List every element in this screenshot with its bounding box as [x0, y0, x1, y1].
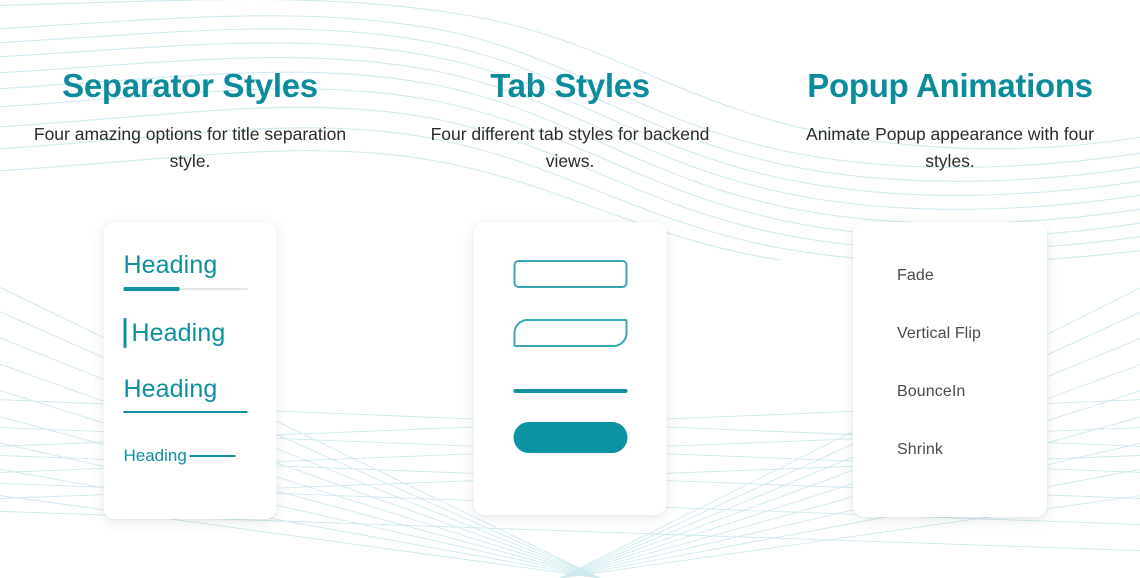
- separator-heading-label: Heading: [124, 250, 257, 280]
- column-tab-styles: Tab Styles Four different tab styles for…: [380, 0, 760, 578]
- separator-style-inline-line[interactable]: Heading: [124, 446, 257, 466]
- separator-inline-line: [190, 455, 236, 457]
- animation-option-shrink[interactable]: Shrink: [897, 442, 1047, 458]
- separator-heading-label: Heading: [132, 318, 226, 348]
- column-subtitle-separator-styles: Four amazing options for title separatio…: [25, 121, 355, 175]
- column-subtitle-tab-styles: Four different tab styles for backend vi…: [405, 121, 735, 175]
- animation-option-vertical-flip[interactable]: Vertical Flip: [897, 326, 1047, 342]
- animation-list-card: Fade Vertical Flip BounceIn Shrink: [853, 222, 1047, 517]
- column-subtitle-popup-animations: Animate Popup appearance with four style…: [785, 121, 1115, 175]
- tab-style-underline-bar[interactable]: [513, 389, 627, 393]
- separator-style-list: Heading Heading Heading: [104, 222, 277, 519]
- column-title-popup-animations: Popup Animations: [807, 68, 1092, 104]
- animation-option-fade[interactable]: Fade: [897, 268, 1047, 284]
- column-title-tab-styles: Tab Styles: [490, 68, 650, 104]
- tab-style-list: [474, 222, 667, 515]
- tab-preview-card: [474, 222, 667, 515]
- animation-option-bouncein[interactable]: BounceIn: [897, 384, 1047, 400]
- feature-showcase: Separator Styles Four amazing options fo…: [0, 0, 1140, 578]
- separator-style-underline-split[interactable]: Heading: [124, 250, 257, 291]
- column-title-separator-styles: Separator Styles: [62, 68, 318, 104]
- separator-heading-label: Heading: [124, 446, 187, 466]
- separator-rule-split: [124, 287, 248, 291]
- tab-style-rounded-rect-outline[interactable]: [513, 260, 627, 288]
- separator-rule-fill: [124, 287, 180, 291]
- separator-rule-full: [124, 411, 248, 413]
- separator-heading-label: Heading: [124, 374, 257, 404]
- column-separator-styles: Separator Styles Four amazing options fo…: [0, 0, 380, 578]
- tab-style-pill-filled[interactable]: [513, 422, 627, 453]
- animation-option-list: Fade Vertical Flip BounceIn Shrink: [853, 222, 1047, 517]
- separator-preview-card: Heading Heading Heading: [104, 222, 277, 519]
- separator-vertical-bar: [124, 318, 127, 348]
- column-popup-animations: Popup Animations Animate Popup appearanc…: [760, 0, 1140, 578]
- tab-style-diagonal-rounded-outline[interactable]: [513, 319, 627, 347]
- separator-style-underline-full[interactable]: Heading: [124, 374, 257, 413]
- columns-container: Separator Styles Four amazing options fo…: [0, 0, 1140, 578]
- separator-style-left-bar[interactable]: Heading: [124, 318, 257, 348]
